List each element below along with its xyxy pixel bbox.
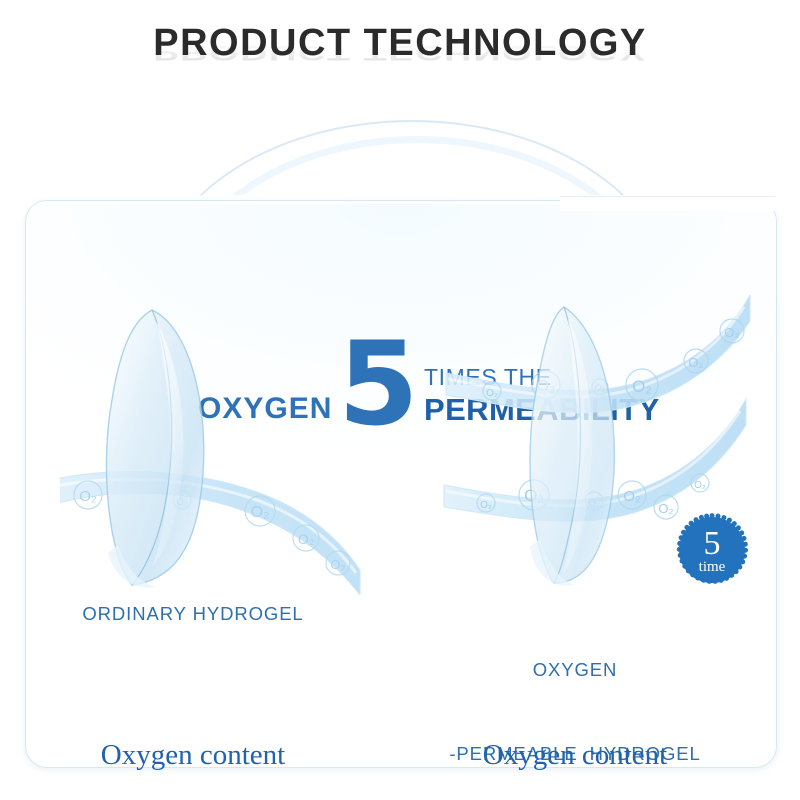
oxygen-permeable-hydrogel-metric-label: Oxygen content bbox=[425, 737, 725, 773]
contact-lens-icon-left: O₂ O₂ O₂ O₂ O₂ bbox=[60, 295, 380, 595]
ordinary-hydrogel-metric-label: Oxygen content bbox=[43, 737, 343, 773]
o2-bubble-icon: O₂ bbox=[688, 355, 703, 370]
badge-shape bbox=[674, 512, 750, 588]
headline-group: OXYGEN 5 TIMES THE PERMEABILITY bbox=[0, 168, 800, 278]
page-title: PRODUCT TECHNOLOGY bbox=[0, 22, 800, 65]
o2-bubble-icon: O₂ bbox=[330, 557, 345, 572]
lens-body-right bbox=[530, 307, 614, 586]
o2-bubble-icon: O₂ bbox=[724, 325, 739, 340]
o2-bubble-icon: O₂ bbox=[79, 488, 97, 505]
o2-bubble-icon: O₂ bbox=[623, 488, 641, 505]
o2-bubble-icon: O₂ bbox=[694, 480, 706, 491]
o2-bubble-icon: O₂ bbox=[480, 500, 492, 511]
lens-body-left bbox=[106, 310, 203, 588]
o2-bubble-icon: O₂ bbox=[251, 504, 270, 521]
ordinary-hydrogel-label: ORDINARY HYDROGEL bbox=[43, 600, 343, 628]
oxygen-stream-icon-left: O₂ O₂ O₂ O₂ O₂ bbox=[60, 472, 360, 595]
o2-bubble-icon: O₂ bbox=[298, 531, 314, 547]
o2-bubble-icon: O₂ bbox=[632, 377, 652, 396]
five-times-badge-icon: 5 time bbox=[674, 512, 750, 588]
badge-scallop-edge bbox=[677, 513, 748, 584]
o2-bubble-icon: O₂ bbox=[658, 501, 673, 516]
ordinary-hydrogel-illustration: O₂ O₂ O₂ O₂ O₂ bbox=[60, 295, 380, 595]
ordinary-hydrogel-metric: Oxygen content 20~30Dk/t bbox=[43, 665, 343, 800]
oxygen-permeable-hydrogel-metric: Oxygen content 138Dk/t bbox=[425, 665, 725, 800]
product-technology-infographic: PRODUCT TECHNOLOGY PRODUCT TECHNOLOGY OX… bbox=[0, 0, 800, 800]
o2-bubble-icon: O₂ bbox=[486, 388, 498, 399]
